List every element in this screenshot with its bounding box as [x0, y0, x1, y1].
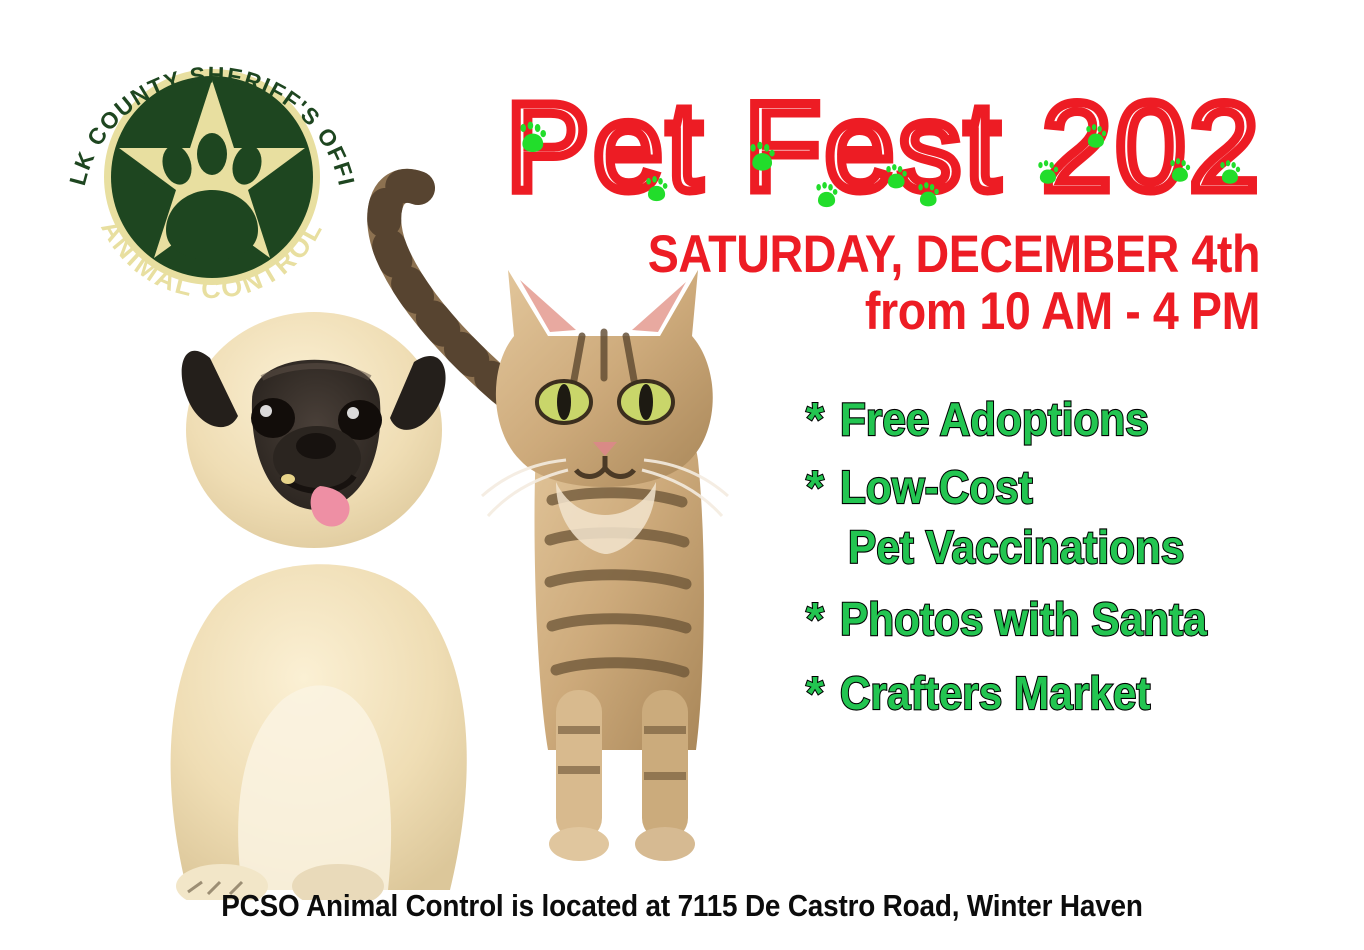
- event-features-list: * Free Adoptions * Low-Cost Pet Vaccinat…: [806, 392, 1276, 734]
- poster-canvas: POLK COUNTY SHERIFF'S OFFICE ANIMAL CONT…: [0, 0, 1364, 950]
- list-item: * Crafters Market: [806, 666, 1276, 720]
- feature-label: Free Adoptions: [840, 392, 1149, 446]
- list-item: * Low-Cost: [806, 460, 1276, 514]
- title-text-outline: Pet Fest 2021: [506, 86, 1258, 216]
- feature-label: Low-Cost: [840, 460, 1033, 514]
- location-text: PCSO Animal Control is located at 7115 D…: [221, 888, 1143, 924]
- asterisk-bullet-icon: *: [806, 666, 840, 720]
- event-dateline: SATURDAY, DECEMBER 4th from 10 AM - 4 PM: [560, 228, 1260, 338]
- asterisk-bullet-icon: *: [806, 460, 840, 514]
- event-time: from 10 AM - 4 PM: [644, 285, 1260, 338]
- location-footer: PCSO Animal Control is located at 7115 D…: [0, 888, 1364, 924]
- list-item: * Photos with Santa: [806, 592, 1276, 646]
- asterisk-bullet-icon: *: [806, 392, 840, 446]
- feature-label: Crafters Market: [840, 666, 1150, 720]
- poster-title: Pet Fest 2021: [498, 86, 1258, 216]
- feature-label: Photos with Santa: [840, 592, 1207, 646]
- feature-label: Pet Vaccinations: [848, 520, 1184, 574]
- list-item: * Free Adoptions: [806, 392, 1276, 446]
- asterisk-bullet-icon: *: [806, 592, 840, 646]
- list-item: Pet Vaccinations: [806, 520, 1276, 574]
- event-date: SATURDAY, DECEMBER 4th: [644, 228, 1260, 281]
